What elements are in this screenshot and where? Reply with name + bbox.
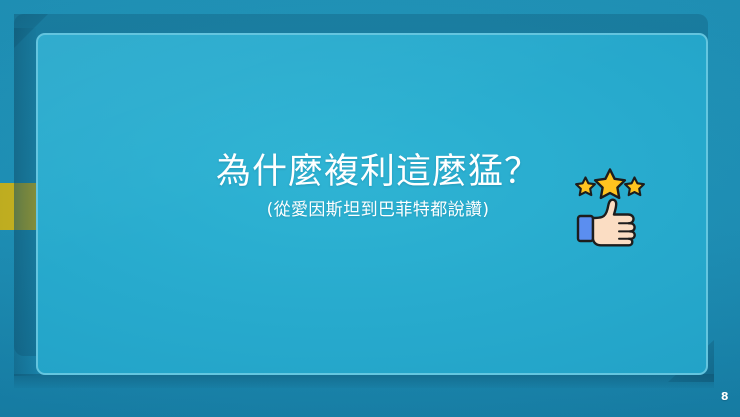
star-center-icon — [595, 170, 625, 198]
thumbs-up-with-stars-icon — [572, 168, 652, 250]
card-shadow-bottom-strip — [14, 374, 714, 388]
thumbs-up-hand-icon — [578, 200, 635, 246]
star-right-icon — [625, 178, 644, 196]
star-left-icon — [576, 178, 595, 196]
page-number: 8 — [721, 390, 729, 403]
slide-canvas: 為什麼複利這麼猛？ (從愛因斯坦到巴菲特都說讚) — [0, 0, 740, 417]
